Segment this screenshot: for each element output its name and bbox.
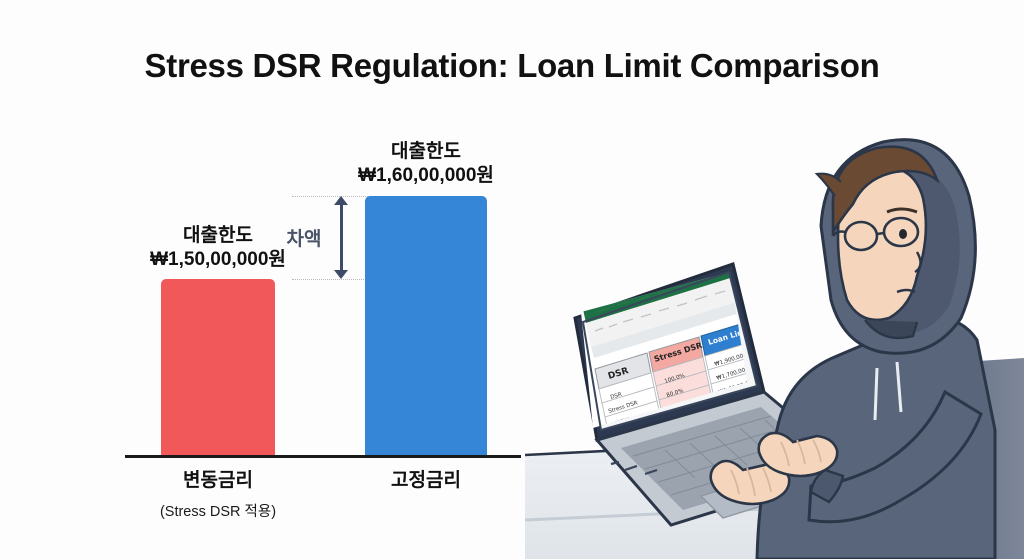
bar-value-amount-variable: ₩1,50,00,000원	[78, 248, 358, 272]
bar-chart: 차액 대출한도 ₩1,50,00,000원 대출한도 ₩1,60,00,000원…	[0, 0, 530, 559]
x-axis-label-fixed-rate: 고정금리	[306, 465, 546, 500]
x-axis-label-variable-sub: (Stress DSR 적용)	[98, 500, 338, 521]
x-axis-label-variable-rate: 변동금리 (Stress DSR 적용)	[98, 465, 338, 521]
x-axis-label-fixed-main: 고정금리	[306, 465, 546, 492]
illustration-person-using-laptop: DSR Stress DSR Loan Limit	[525, 0, 1024, 559]
bar-value-caption-variable: 대출한도	[78, 224, 358, 248]
leader-line-lower	[292, 279, 370, 280]
screenshot-root: Stress DSR Regulation: Loan Limit Compar…	[0, 0, 1024, 559]
leader-line-upper	[292, 196, 370, 197]
bar-value-variable-rate: 대출한도 ₩1,50,00,000원	[78, 224, 358, 273]
bar-value-caption-fixed: 대출한도	[286, 140, 566, 164]
x-axis-label-variable-main: 변동금리	[98, 465, 338, 492]
bar-fixed-rate	[365, 196, 487, 456]
bar-variable-rate	[161, 279, 275, 456]
bar-value-fixed-rate: 대출한도 ₩1,60,00,000원	[286, 140, 566, 189]
x-axis-line	[125, 455, 521, 458]
bar-value-amount-fixed: ₩1,60,00,000원	[286, 164, 566, 188]
